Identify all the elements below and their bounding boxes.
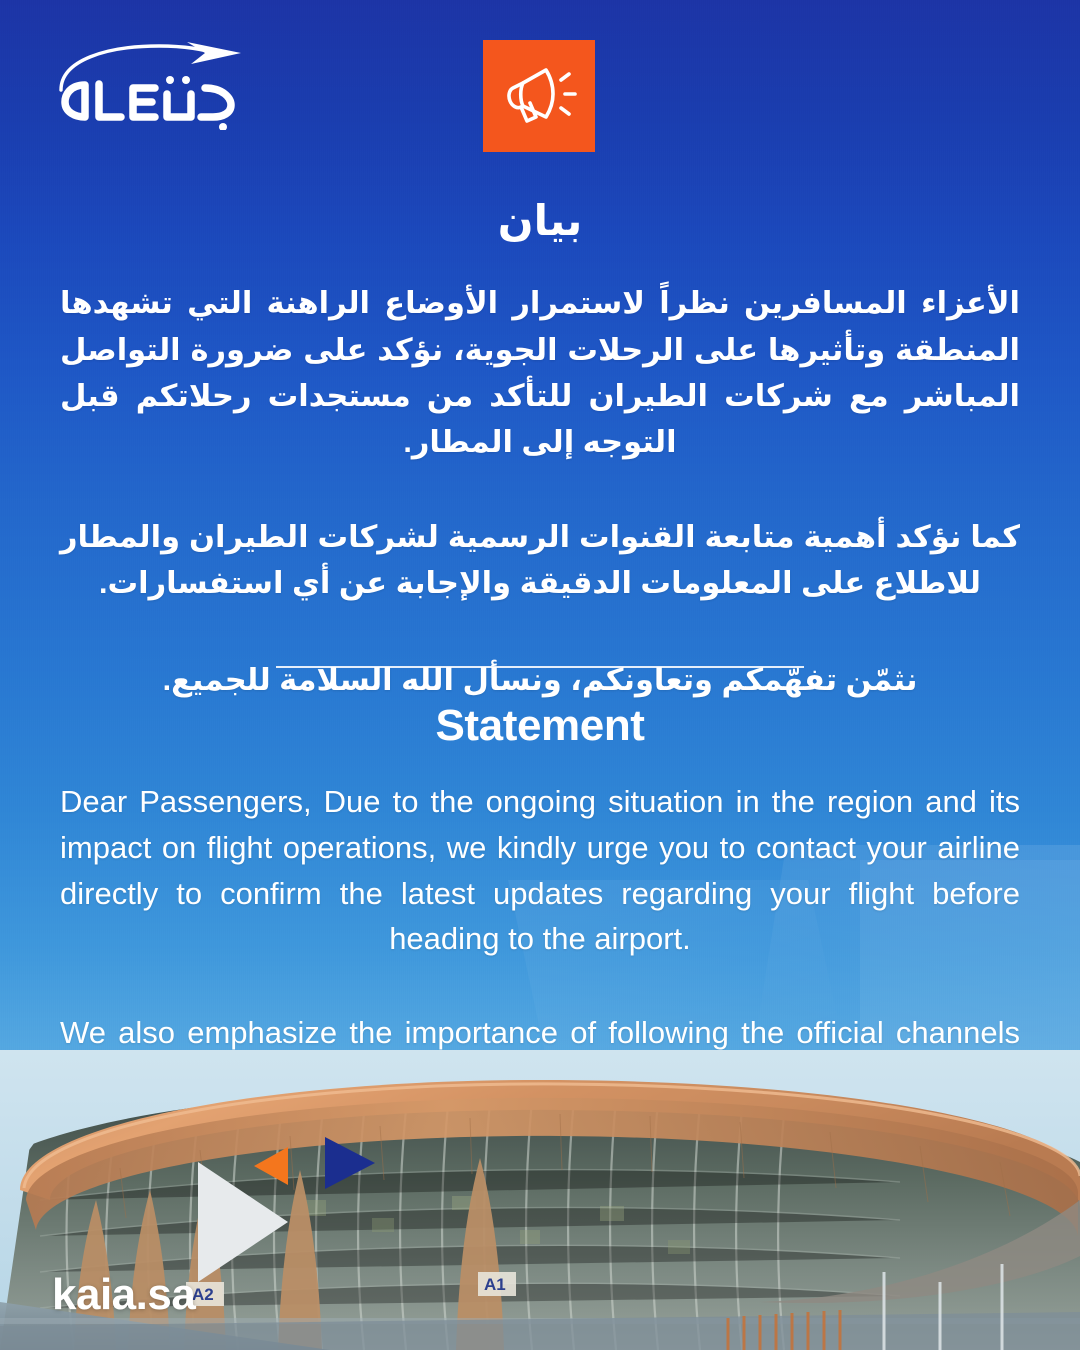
announcement-badge [483, 40, 595, 152]
english-title: Statement [60, 700, 1020, 753]
arabic-content: بيان الأعزاء المسافرين نظراً لاستمرار ال… [60, 196, 1020, 703]
section-divider [276, 666, 804, 668]
arabic-title: بيان [60, 196, 1020, 246]
arabic-paragraph-1: الأعزاء المسافرين نظراً لاستمرار الأوضاع… [60, 280, 1020, 465]
jeddah-airport-logo [55, 38, 255, 128]
play-triangle-blue[interactable] [325, 1137, 375, 1189]
svg-text:A1: A1 [484, 1275, 506, 1294]
english-paragraph-1: Dear Passengers, Due to the ongoing situ… [60, 779, 1020, 963]
arabic-paragraph-2: كما نؤكد أهمية متابعة القنوات الرسمية لش… [60, 514, 1020, 607]
announcement-poster: بيان الأعزاء المسافرين نظراً لاستمرار ال… [0, 0, 1080, 1350]
arabic-paragraph-3: نثمّن تفهّمكم وتعاونكم، ونسأل الله السلا… [60, 657, 1020, 703]
play-triangle-orange[interactable] [254, 1147, 288, 1185]
poster-header [0, 0, 1080, 185]
website-wordmark[interactable]: kaia.sa [52, 1273, 195, 1317]
megaphone-icon [499, 56, 579, 136]
